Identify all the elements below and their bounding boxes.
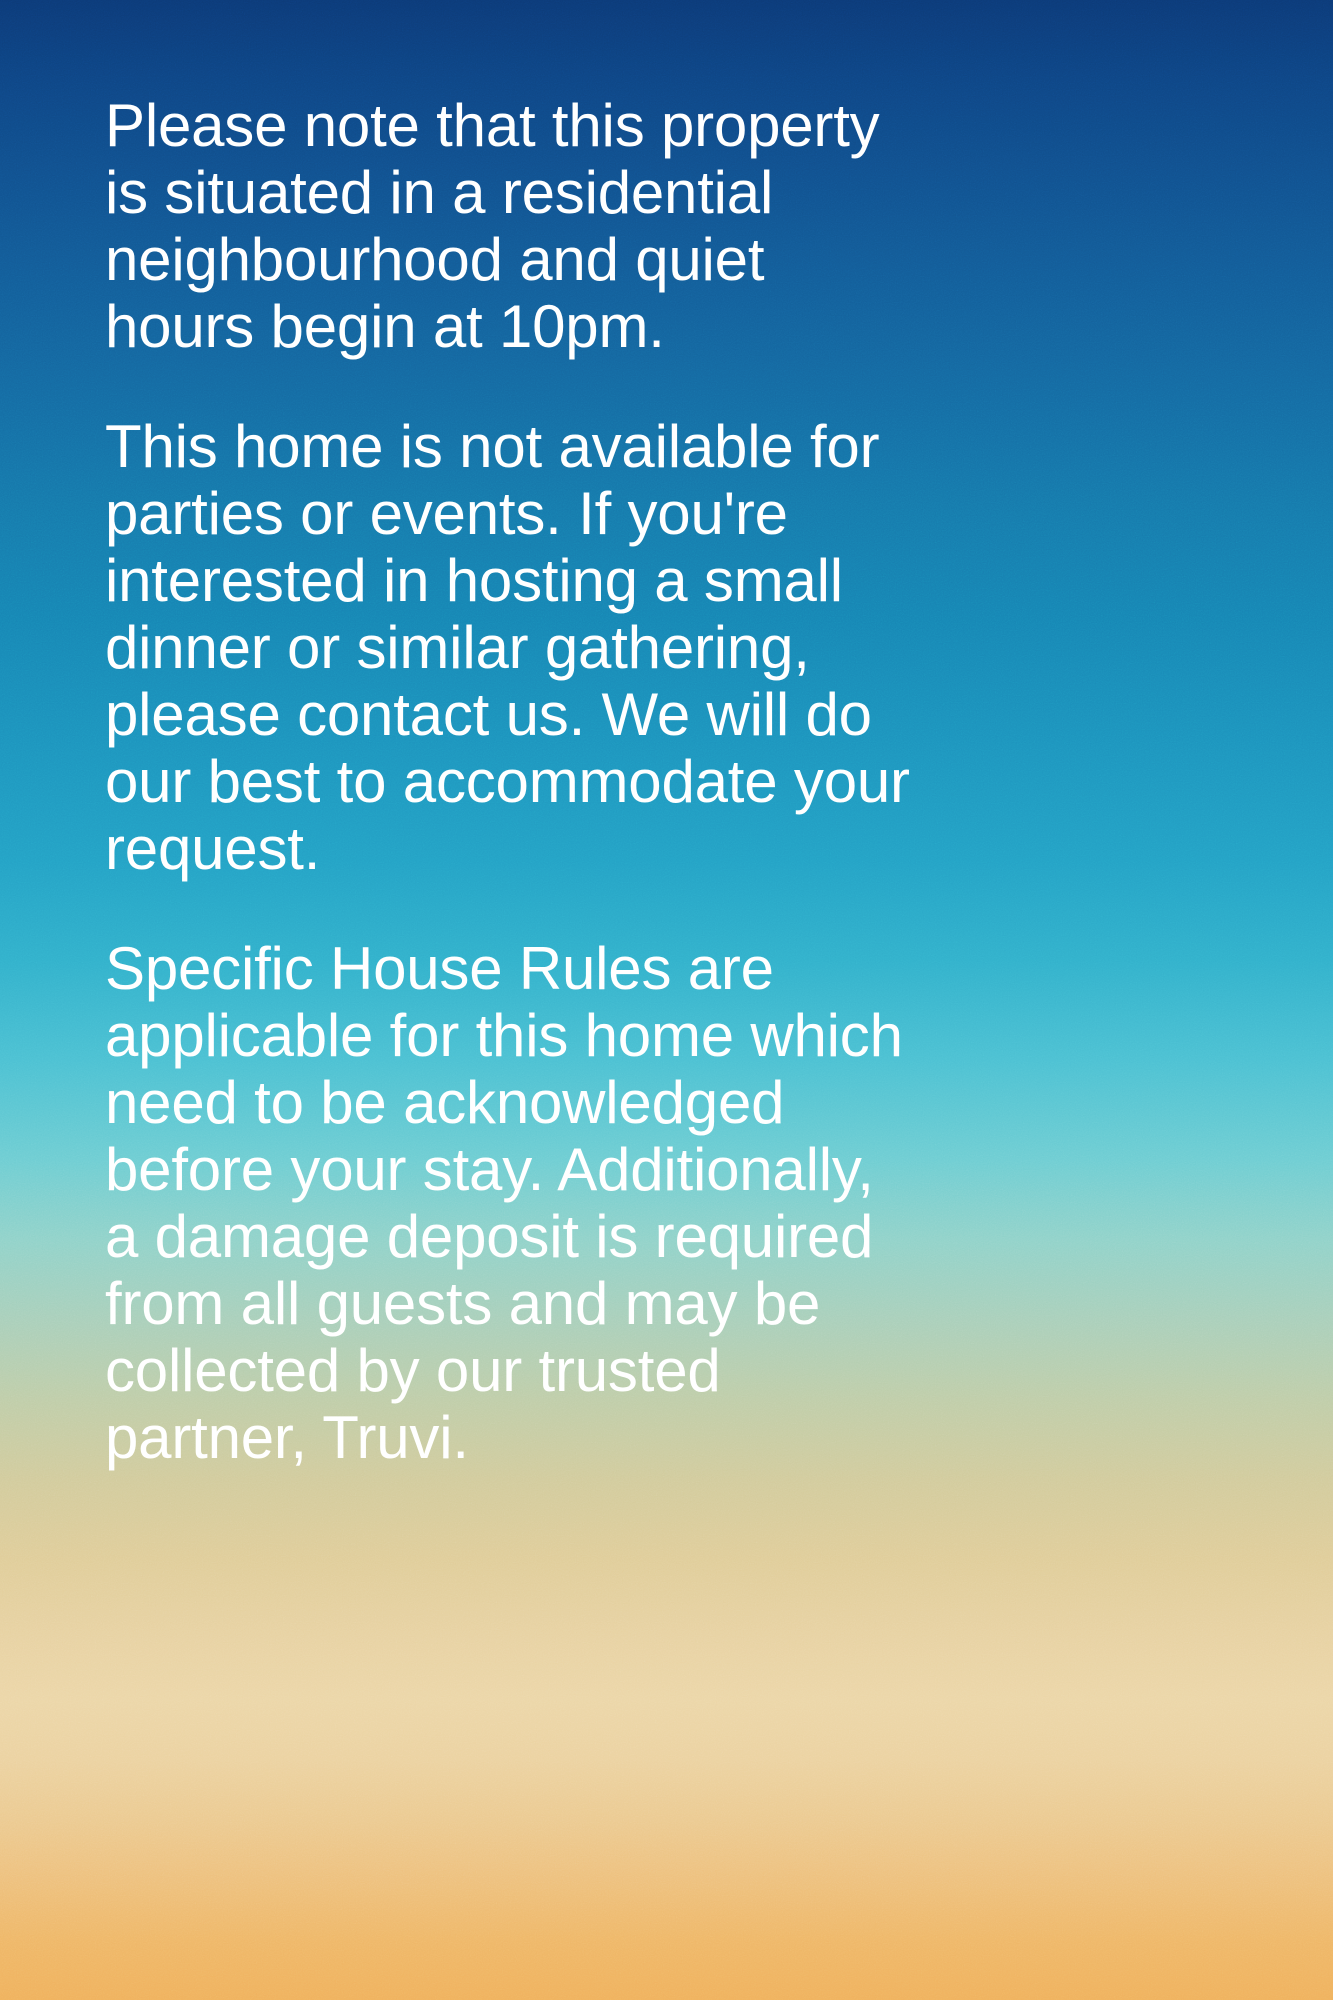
notice-card: Please note that this property is situat… (0, 0, 1333, 2000)
notice-text-block: Please note that this property is situat… (105, 92, 1155, 1471)
notice-paragraph-quiet-hours: Please note that this property is situat… (105, 92, 1155, 360)
notice-paragraph-house-rules-deposit: Specific House Rules are applicable for … (105, 935, 1155, 1471)
notice-paragraph-no-parties: This home is not available for parties o… (105, 413, 1155, 882)
